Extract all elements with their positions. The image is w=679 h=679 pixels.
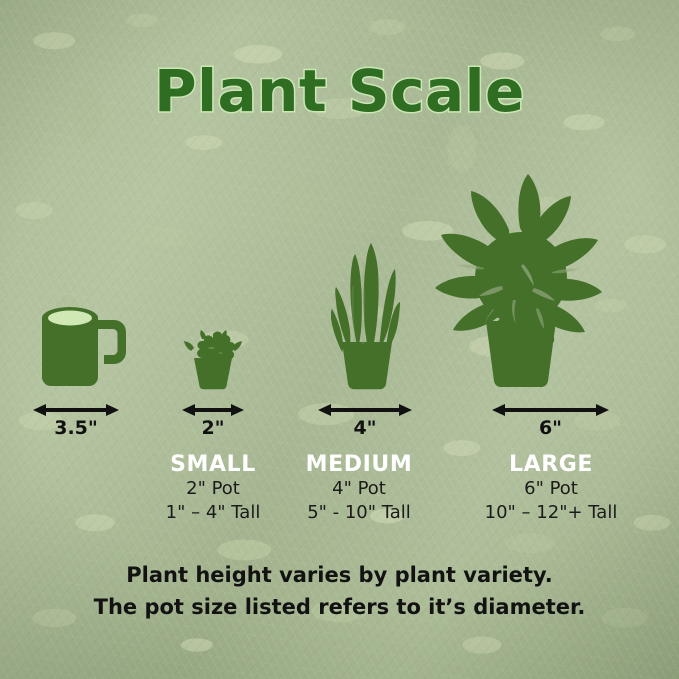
double-arrow-icon — [492, 403, 609, 417]
dimension-small: 2" — [182, 403, 244, 417]
size-block-large: LARGE 6" Pot 10" – 12"+ Tall — [451, 452, 651, 525]
snake-plant-icon — [318, 222, 412, 391]
footer-note: Plant height varies by plant variety. Th… — [0, 560, 679, 623]
double-arrow-icon — [33, 403, 119, 417]
size-pot: 4" Pot — [259, 477, 459, 501]
dimension-large: 6" — [492, 403, 609, 417]
footer-line-2: The pot size listed refers to it’s diame… — [0, 592, 679, 624]
footer-line-1: Plant height varies by plant variety. — [0, 560, 679, 592]
dimension-label: 4" — [318, 417, 412, 439]
dimension-label: 6" — [492, 417, 609, 439]
size-pot: 6" Pot — [451, 477, 651, 501]
size-block-medium: MEDIUM 4" Pot 5" - 10" Tall — [259, 452, 459, 525]
dimension-label: 2" — [182, 417, 244, 439]
double-arrow-icon — [182, 403, 244, 417]
dimension-medium: 4" — [318, 403, 412, 417]
infographic-canvas: Plant Scale — [0, 0, 679, 679]
size-title: LARGE — [451, 452, 651, 477]
dimension-label: 3.5" — [33, 417, 119, 439]
large-leafy-plant-icon — [424, 168, 616, 391]
size-height: 5" - 10" Tall — [259, 501, 459, 525]
size-height: 10" – 12"+ Tall — [451, 501, 651, 525]
small-potted-plant-icon — [182, 330, 244, 391]
mug-icon — [38, 307, 126, 391]
dimension-mug: 3.5" — [33, 403, 119, 417]
double-arrow-icon — [318, 403, 412, 417]
size-title: MEDIUM — [259, 452, 459, 477]
